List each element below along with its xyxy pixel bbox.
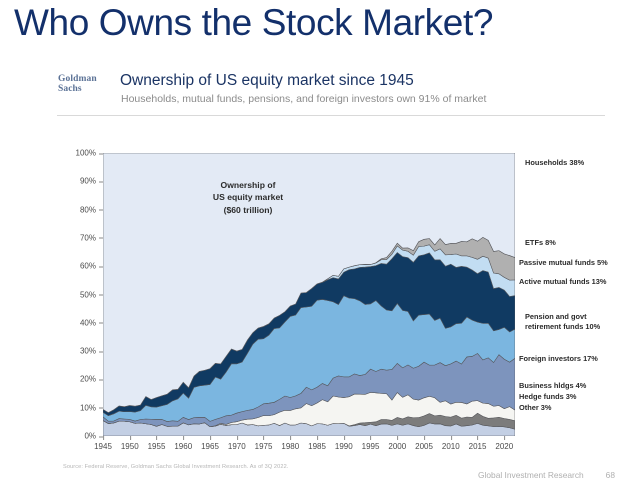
legend-item: ETFs 8% [519,238,556,248]
stacked-area-chart [103,153,515,436]
exhibit-card: Goldman Sachs Ownership of US equity mar… [0,62,640,487]
legend-item: Hedge funds 3% [519,392,577,402]
x-axis-tick-label: 1975 [255,442,273,451]
annotation-line-1: Ownership of [189,179,307,191]
y-axis-tick-label: 60% [80,262,103,271]
x-axis-tick-label: 1955 [148,442,166,451]
y-axis-tick-label: 100% [76,149,103,158]
plot-annotation: Ownership of US equity market ($60 trill… [189,179,307,216]
area-layer-group [103,153,515,436]
legend-item: Active mutual funds 13% [519,277,606,287]
annotation-line-3: ($60 trillion) [189,204,307,216]
y-axis-tick-label: 50% [80,290,103,299]
legend-item: Households 38% [519,158,584,168]
legend-label-line: Pension and govt [525,312,600,322]
y-axis-tick-label: 70% [80,233,103,242]
goldman-sachs-logo: Goldman Sachs [58,75,116,95]
legend-item: Foreign investors 17% [519,354,598,364]
x-axis-tick-label: 2000 [388,442,406,451]
y-axis-tick-label: 10% [80,403,103,412]
page-title: Who Owns the Stock Market? [14,2,493,43]
x-axis-tick-label: 1990 [335,442,353,451]
exhibit-subtitle: Households, mutual funds, pensions, and … [121,93,486,105]
x-axis-tick-label: 1980 [281,442,299,451]
legend-label-line: retirement funds 10% [525,322,600,332]
legend-item: Pension and govtretirement funds 10% [519,312,600,332]
annotation-line-2: US equity market [189,191,307,203]
logo-line-2: Sachs [58,85,116,95]
footer-label: Global Investment Research [478,470,584,480]
x-axis-tick-label: 1970 [228,442,246,451]
x-axis-tick-label: 2010 [442,442,460,451]
chart-legend: Households 38%ETFs 8%Passive mutual fund… [519,153,640,436]
exhibit-title: Ownership of US equity market since 1945 [120,72,414,90]
y-axis-tick-label: 0% [84,432,103,441]
y-axis-tick-label: 30% [80,347,103,356]
slide-footer: Global Investment Research 68 [478,470,615,480]
y-axis-tick-label: 90% [80,177,103,186]
source-note: Source: Federal Reserve, Goldman Sachs G… [63,464,288,470]
y-axis-tick-label: 20% [80,375,103,384]
x-axis-tick-label: 2015 [469,442,487,451]
x-axis-tick-label: 1995 [362,442,380,451]
x-axis-tick-label: 1985 [308,442,326,451]
x-axis-tick-label: 1950 [121,442,139,451]
x-axis-tick-label: 1945 [94,442,112,451]
y-axis-tick-label: 40% [80,318,103,327]
chart-plot-area: Ownership of US equity market ($60 trill… [103,153,515,436]
x-axis-tick-label: 2020 [495,442,513,451]
legend-item: Passive mutual funds 5% [519,258,608,268]
header-divider [57,115,605,116]
page-number: 68 [606,470,615,480]
x-axis-tick-label: 1960 [174,442,192,451]
y-axis-tick-label: 80% [80,205,103,214]
legend-item: Other 3% [519,403,551,413]
legend-item: Business hldgs 4% [519,381,586,391]
x-axis-tick-label: 2005 [415,442,433,451]
x-axis-tick-label: 1965 [201,442,219,451]
